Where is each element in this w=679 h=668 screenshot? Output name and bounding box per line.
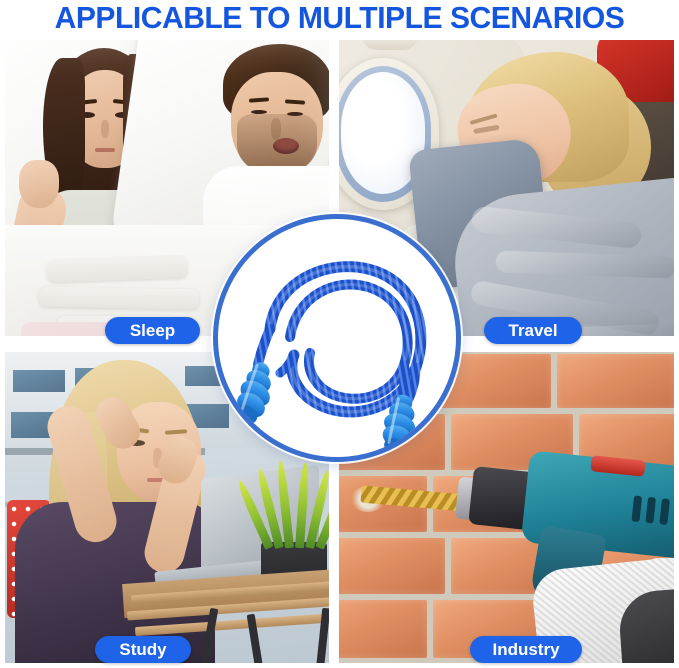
scenario-badge-sleep[interactable]: Sleep xyxy=(105,317,200,344)
page-title: APPLICABLE TO MULTIPLE SCENARIOS xyxy=(10,1,669,35)
scenario-badge-industry[interactable]: Industry xyxy=(470,636,582,663)
product-callout-circle xyxy=(213,214,461,462)
corded-earplugs-illustration xyxy=(218,219,456,457)
scenario-badge-travel[interactable]: Travel xyxy=(484,317,582,344)
promo-image: APPLICABLE TO MULTIPLE SCENARIOS xyxy=(0,0,679,668)
scenario-badge-study[interactable]: Study xyxy=(95,636,191,663)
